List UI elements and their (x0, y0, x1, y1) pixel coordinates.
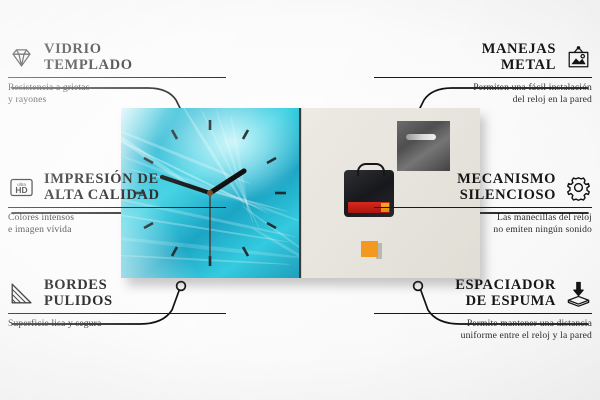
feature-description: Permite mantener una distancia uniforme … (374, 318, 592, 341)
feature-header: ultra HD IMPRESIÓN DE ALTA CALIDAD (8, 172, 226, 203)
feature-header: VIDRIO TEMPLADO (8, 42, 226, 73)
feature-header: MANEJAS METAL (374, 42, 592, 73)
feature-title: BORDES PULIDOS (44, 278, 113, 309)
infographic-canvas: VIDRIO TEMPLADO Resistencia a grietas y … (0, 0, 600, 400)
svg-text:HD: HD (15, 185, 27, 195)
feature-impresion-alta-calidad: ultra HD IMPRESIÓN DE ALTA CALIDAD Color… (8, 172, 226, 235)
divider (374, 313, 592, 314)
feature-description: Las manecillas del reloj no emiten ningú… (374, 212, 592, 235)
divider (8, 77, 226, 78)
feature-mecanismo-silencioso: MECANISMO SILENCIOSO Las manecillas del … (374, 172, 592, 235)
feature-bordes-pulidos: BORDES PULIDOS Superficie lisa y segura (8, 278, 226, 330)
foam-spacer (361, 241, 378, 257)
foam-spacer-top (361, 241, 378, 257)
feature-title: ESPACIADOR DE ESPUMA (455, 278, 556, 309)
gear-icon (565, 174, 592, 201)
feature-title: IMPRESIÓN DE ALTA CALIDAD (44, 172, 160, 203)
feature-title: MANEJAS METAL (482, 42, 556, 73)
feature-header: ESPACIADOR DE ESPUMA (374, 278, 592, 309)
ultra-hd-badge-icon: ultra HD (8, 174, 35, 201)
feature-header: MECANISMO SILENCIOSO (374, 172, 592, 203)
feature-title: VIDRIO TEMPLADO (44, 42, 133, 73)
divider (8, 207, 226, 208)
feature-title: MECANISMO SILENCIOSO (457, 172, 556, 203)
feature-vidrio-templado: VIDRIO TEMPLADO Resistencia a grietas y … (8, 42, 226, 105)
down-arrow-on-pad-icon (565, 280, 592, 307)
feature-manejas-metal: MANEJAS METAL Permiten una fácil instala… (374, 42, 592, 105)
polished-edge-hatch-icon (8, 280, 35, 307)
divider (8, 313, 226, 314)
wall-hanging-frame-icon (565, 44, 592, 71)
metal-hanger-plate (397, 121, 450, 171)
feature-description: Colores intensos e imagen vívida (8, 212, 226, 235)
feature-description: Resistencia a grietas y rayones (8, 82, 226, 105)
feature-description: Superficie lisa y segura (8, 318, 226, 330)
feature-header: BORDES PULIDOS (8, 278, 226, 309)
divider (374, 207, 592, 208)
feature-description: Permiten una fácil instalación del reloj… (374, 82, 592, 105)
hanger-slot (406, 134, 436, 140)
diamond-icon (8, 44, 35, 71)
divider (374, 77, 592, 78)
feature-espaciador-espuma: ESPACIADOR DE ESPUMA Permite mantener un… (374, 278, 592, 341)
